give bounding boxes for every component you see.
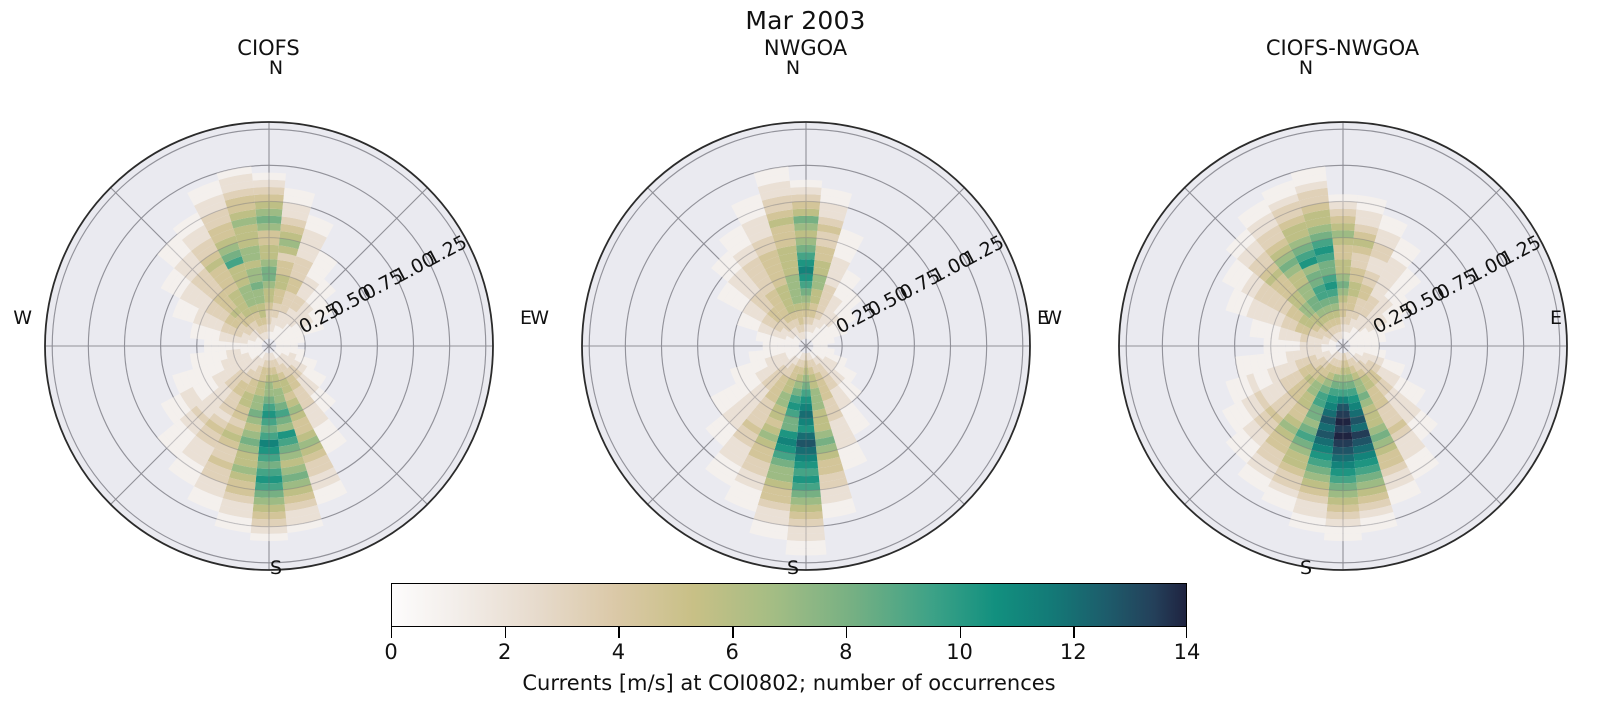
colorbar-tick xyxy=(846,627,847,638)
compass-label-s: S xyxy=(787,557,799,579)
polar-axes-nwgoa: 0.250.500.751.001.25 xyxy=(552,92,1060,600)
polar-plot-ciofs-nwgoa: 0.250.500.751.001.25 xyxy=(1089,92,1597,600)
colorbar-tick xyxy=(1186,627,1187,638)
colorbar-label: Currents [m/s] at COI0802; number of occ… xyxy=(391,671,1187,695)
colorbar-tick-label: 14 xyxy=(1174,640,1201,664)
colorbar: 02468101214 xyxy=(391,583,1187,669)
compass-label-e: E xyxy=(1550,307,1562,329)
colorbar-tick xyxy=(960,627,961,638)
figure-root: Mar 2003 CIOFS 0.250.500.751.001.25 NWGO… xyxy=(0,0,1611,724)
polar-plot-ciofs: 0.250.500.751.001.25 xyxy=(15,92,523,600)
panel-ciofs-nwgoa: CIOFS-NWGOA 0.250.500.751.001.25 xyxy=(1074,0,1611,600)
panel-ciofs: CIOFS 0.250.500.751.001.25 xyxy=(0,0,537,600)
colorbar-tick-label: 12 xyxy=(1060,640,1087,664)
compass-label-n: N xyxy=(1299,57,1313,79)
colorbar-tick-label: 4 xyxy=(612,640,625,664)
polar-plot-nwgoa: 0.250.500.751.001.25 xyxy=(552,92,1060,600)
colorbar-gradient xyxy=(391,583,1187,627)
compass-label-n: N xyxy=(269,57,283,79)
colorbar-tick-label: 6 xyxy=(725,640,738,664)
radial-gridlines-overlay xyxy=(1119,122,1567,570)
compass-label-s: S xyxy=(270,557,282,579)
colorbar-tick-label: 10 xyxy=(946,640,973,664)
radial-gridlines-overlay xyxy=(45,122,493,570)
colorbar-tick xyxy=(505,627,506,638)
colorbar-tick-labels: 02468101214 xyxy=(391,639,1187,669)
colorbar-tick xyxy=(732,627,733,638)
colorbar-tick-label: 2 xyxy=(498,640,511,664)
colorbar-tick xyxy=(391,627,392,638)
colorbar-tick xyxy=(1073,627,1074,638)
radial-gridlines-overlay xyxy=(582,122,1030,570)
colorbar-tick-label: 8 xyxy=(839,640,852,664)
colorbar-tick-label: 0 xyxy=(384,640,397,664)
colorbar-ticks xyxy=(391,627,1187,639)
compass-label-w: W xyxy=(13,307,32,329)
compass-label-n: N xyxy=(786,57,800,79)
polar-axes-ciofs: 0.250.500.751.001.25 xyxy=(15,92,523,600)
compass-label-w: W xyxy=(530,307,549,329)
panel-title-ciofs-nwgoa: CIOFS-NWGOA xyxy=(1074,36,1611,60)
panel-nwgoa: NWGOA 0.250.500.751.001.25 xyxy=(537,0,1074,600)
panel-title-nwgoa: NWGOA xyxy=(537,36,1074,60)
compass-label-s: S xyxy=(1300,557,1312,579)
polar-axes-ciofs-nwgoa: 0.250.500.751.001.25 xyxy=(1089,92,1597,600)
compass-label-w: W xyxy=(1043,307,1062,329)
colorbar-tick xyxy=(618,627,619,638)
